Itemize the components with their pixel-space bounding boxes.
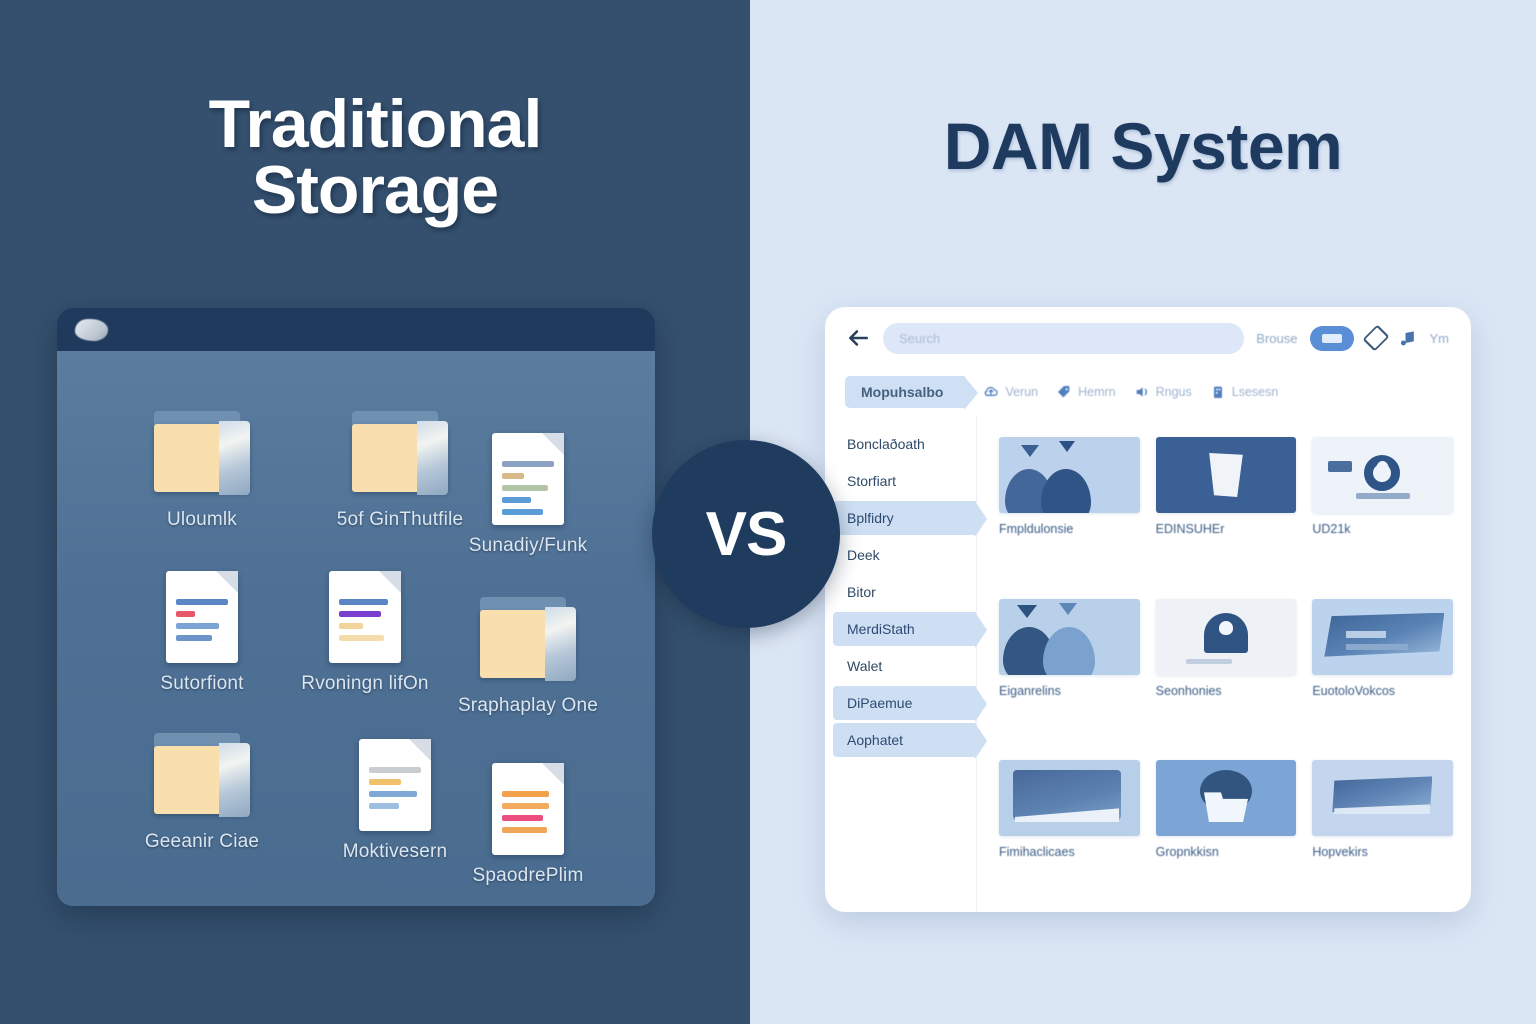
tag-icon <box>1056 384 1072 400</box>
file-label: Sutorfiont <box>109 673 295 695</box>
dam-system-panel: DAM System Seurch Brouse Ym <box>750 0 1536 1024</box>
dam-system-title: DAM System <box>750 108 1536 184</box>
music-note-icon[interactable] <box>1398 328 1418 348</box>
sidebar-item[interactable]: Walet <box>833 649 976 683</box>
tab-active[interactable]: Mopuhsalbo <box>845 376 965 408</box>
file-item[interactable]: Uloumlk <box>109 403 295 531</box>
asset-item[interactable]: UD21k <box>1312 437 1453 589</box>
cloud-upload-icon <box>983 384 999 400</box>
asset-grid: Fmpldulonsie EDINSUHEr <box>977 415 1471 912</box>
document-icon <box>272 567 458 667</box>
sidebar-item[interactable]: Bitor <box>833 575 976 609</box>
search-placeholder: Seurch <box>899 331 940 346</box>
traditional-storage-panel: Traditional Storage Uloumlk <box>0 0 750 1024</box>
file-item[interactable]: Sraphaplay One <box>435 589 621 717</box>
speaker-icon <box>1134 384 1150 400</box>
asset-thumbnail <box>1312 437 1453 513</box>
sidebar-item[interactable]: Storfiart <box>833 464 976 498</box>
document-icon <box>435 759 621 859</box>
document-icon <box>435 429 621 529</box>
title-line-1: Traditional <box>70 92 680 158</box>
asset-thumbnail <box>1156 437 1297 513</box>
title-line-2: Storage <box>70 158 680 224</box>
file-label: Sunadiy/Funk <box>435 535 621 557</box>
file-window-titlebar <box>57 308 655 351</box>
folder-icon <box>109 403 295 503</box>
file-label: Geeanir Ciae <box>109 831 295 853</box>
file-item[interactable]: SpaodrePlim <box>435 759 621 887</box>
asset-label: Eiganrelins <box>999 684 1140 698</box>
dam-main-area: Bonclaðoath Storfiart Bplfidry Deek Bito… <box>825 415 1471 912</box>
tab-label: Hemrn <box>1078 385 1116 399</box>
tab-label: Verun <box>1005 385 1038 399</box>
sidebar-item[interactable]: DiPaemue <box>833 686 976 720</box>
asset-label: Seonhonies <box>1156 684 1297 698</box>
asset-item[interactable]: Hopvekirs <box>1312 760 1453 912</box>
browse-label[interactable]: Brouse <box>1256 331 1297 346</box>
asset-thumbnail <box>999 760 1140 836</box>
asset-item[interactable]: Gropnkkisn <box>1156 760 1297 912</box>
file-item[interactable]: Sutorfiont <box>109 567 295 695</box>
asset-item[interactable]: Fmpldulonsie <box>999 437 1140 589</box>
asset-thumbnail <box>999 599 1140 675</box>
sidebar-item[interactable]: Aophatet <box>833 723 976 757</box>
asset-item[interactable]: EDINSUHEr <box>1156 437 1297 589</box>
file-label: Sraphaplay One <box>435 695 621 717</box>
file-explorer-window: Uloumlk 5of GinThutfile <box>57 308 655 906</box>
file-label: SpaodrePlim <box>435 865 621 887</box>
asset-thumbnail <box>1156 760 1297 836</box>
file-item[interactable]: Sunadiy/Funk <box>435 429 621 557</box>
dam-sidebar: Bonclaðoath Storfiart Bplfidry Deek Bito… <box>825 415 977 912</box>
file-item[interactable]: Geeanir Ciae <box>109 725 295 853</box>
folder-icon <box>435 589 621 689</box>
asset-item[interactable]: Fimihaclicaes <box>999 760 1140 912</box>
tab-label: Rngus <box>1156 385 1192 399</box>
asset-label: EuotoloVokcos <box>1312 684 1453 698</box>
file-item[interactable]: Rvoningn lifOn <box>272 567 458 695</box>
tab-item[interactable]: Rngus <box>1134 384 1192 400</box>
file-window-body: Uloumlk 5of GinThutfile <box>57 351 655 906</box>
sidebar-item[interactable]: Bplfidry <box>833 501 976 535</box>
blob-icon <box>75 319 108 341</box>
search-input[interactable]: Seurch <box>883 323 1244 354</box>
sidebar-item[interactable]: Bonclaðoath <box>833 427 976 461</box>
sidebar-item[interactable]: Deek <box>833 538 976 572</box>
file-label: Rvoningn lifOn <box>272 673 458 695</box>
asset-item[interactable]: Seonhonies <box>1156 599 1297 751</box>
asset-thumbnail <box>1312 760 1453 836</box>
document-icon <box>109 567 295 667</box>
asset-label: Fimihaclicaes <box>999 845 1140 859</box>
asset-item[interactable]: Eiganrelins <box>999 599 1140 751</box>
asset-label: Fmpldulonsie <box>999 522 1140 536</box>
back-arrow-icon[interactable] <box>845 325 871 351</box>
dam-tab-bar: Mopuhsalbo Verun Hemrn <box>825 369 1471 415</box>
asset-item[interactable]: EuotoloVokcos <box>1312 599 1453 751</box>
diamond-icon[interactable] <box>1362 325 1389 352</box>
tab-label: Lsesesn <box>1232 385 1279 399</box>
asset-label: EDINSUHEr <box>1156 522 1297 536</box>
traditional-storage-title: Traditional Storage <box>0 92 750 224</box>
asset-label: Hopvekirs <box>1312 845 1453 859</box>
tab-item[interactable]: Lsesesn <box>1210 384 1279 400</box>
building-icon <box>1210 384 1226 400</box>
vs-badge: VS <box>652 440 840 628</box>
dam-app-window: Seurch Brouse Ym Mopuhsalbo <box>825 307 1471 912</box>
note-label: Ym <box>1430 331 1450 346</box>
asset-thumbnail <box>999 437 1140 513</box>
asset-label: Gropnkkisn <box>1156 845 1297 859</box>
tab-item[interactable]: Hemrn <box>1056 384 1116 400</box>
toggle-pill-icon[interactable] <box>1310 326 1354 351</box>
comparison-infographic: Traditional Storage Uloumlk <box>0 0 1536 1024</box>
asset-thumbnail <box>1156 599 1297 675</box>
dam-toolbar: Seurch Brouse Ym <box>825 307 1471 369</box>
asset-label: UD21k <box>1312 522 1453 536</box>
folder-icon <box>109 725 295 825</box>
sidebar-item[interactable]: MerdiStath <box>833 612 976 646</box>
asset-thumbnail <box>1312 599 1453 675</box>
file-label: Uloumlk <box>109 509 295 531</box>
tab-item[interactable]: Verun <box>983 384 1038 400</box>
